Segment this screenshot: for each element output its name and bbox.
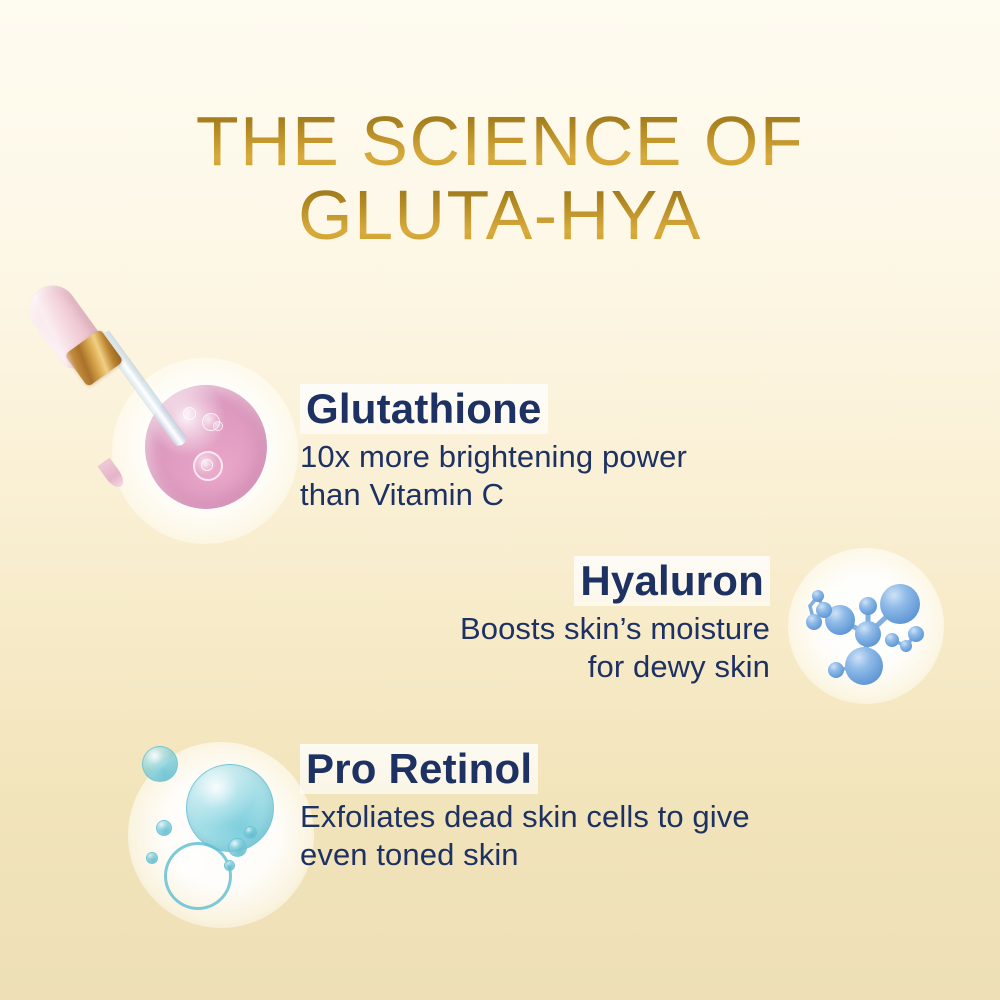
desc-line-2: even toned skin [300, 836, 750, 874]
teal-bubbles-icon [128, 742, 314, 928]
bubble-tiny [146, 852, 158, 864]
desc-line-1: Exfoliates dead skin cells to give [300, 798, 750, 836]
ingredient-name-pro-retinol: Pro Retinol [300, 744, 538, 794]
desc-line-1: Boosts skin’s moisture [460, 610, 770, 648]
title-line-1: THE SCIENCE OF [0, 104, 1000, 178]
ingredient-heading-wrap: Pro Retinol [300, 744, 750, 794]
desc-line-2: for dewy skin [460, 648, 770, 686]
desc-line-1: 10x more brightening power [300, 438, 687, 476]
serum-dropper-icon [22, 276, 252, 516]
bubble-tiny [228, 838, 247, 857]
bubble-tiny [244, 826, 257, 839]
ingredient-heading-wrap: Hyaluron [460, 556, 770, 606]
bubble-large [186, 764, 274, 852]
ingredient-block-hyaluron: Hyaluron Boosts skin’s moisture for dewy… [460, 556, 770, 686]
bubble-tiny [156, 820, 172, 836]
ingredient-description-hyaluron: Boosts skin’s moisture for dewy skin [460, 610, 770, 686]
ingredient-block-pro-retinol: Pro Retinol Exfoliates dead skin cells t… [300, 744, 750, 874]
bubble-tiny [224, 860, 235, 871]
ingredient-name-hyaluron: Hyaluron [574, 556, 770, 606]
title-line-2: GLUTA-HYA [0, 178, 1000, 252]
ingredient-heading-wrap: Glutathione [300, 384, 687, 434]
ingredient-description-glutathione: 10x more brightening power than Vitamin … [300, 438, 687, 514]
molecule-icon [788, 548, 944, 704]
infographic-poster: THE SCIENCE OF GLUTA-HYA Glutathione 10x… [0, 0, 1000, 1000]
ingredient-name-glutathione: Glutathione [300, 384, 548, 434]
desc-line-2: than Vitamin C [300, 476, 687, 514]
ingredient-block-glutathione: Glutathione 10x more brightening power t… [300, 384, 687, 514]
page-title: THE SCIENCE OF GLUTA-HYA [0, 104, 1000, 252]
bubble-small [142, 746, 178, 782]
bubble-ring [164, 842, 232, 910]
dropper-tip [97, 458, 127, 491]
ingredient-description-pro-retinol: Exfoliates dead skin cells to give even … [300, 798, 750, 874]
